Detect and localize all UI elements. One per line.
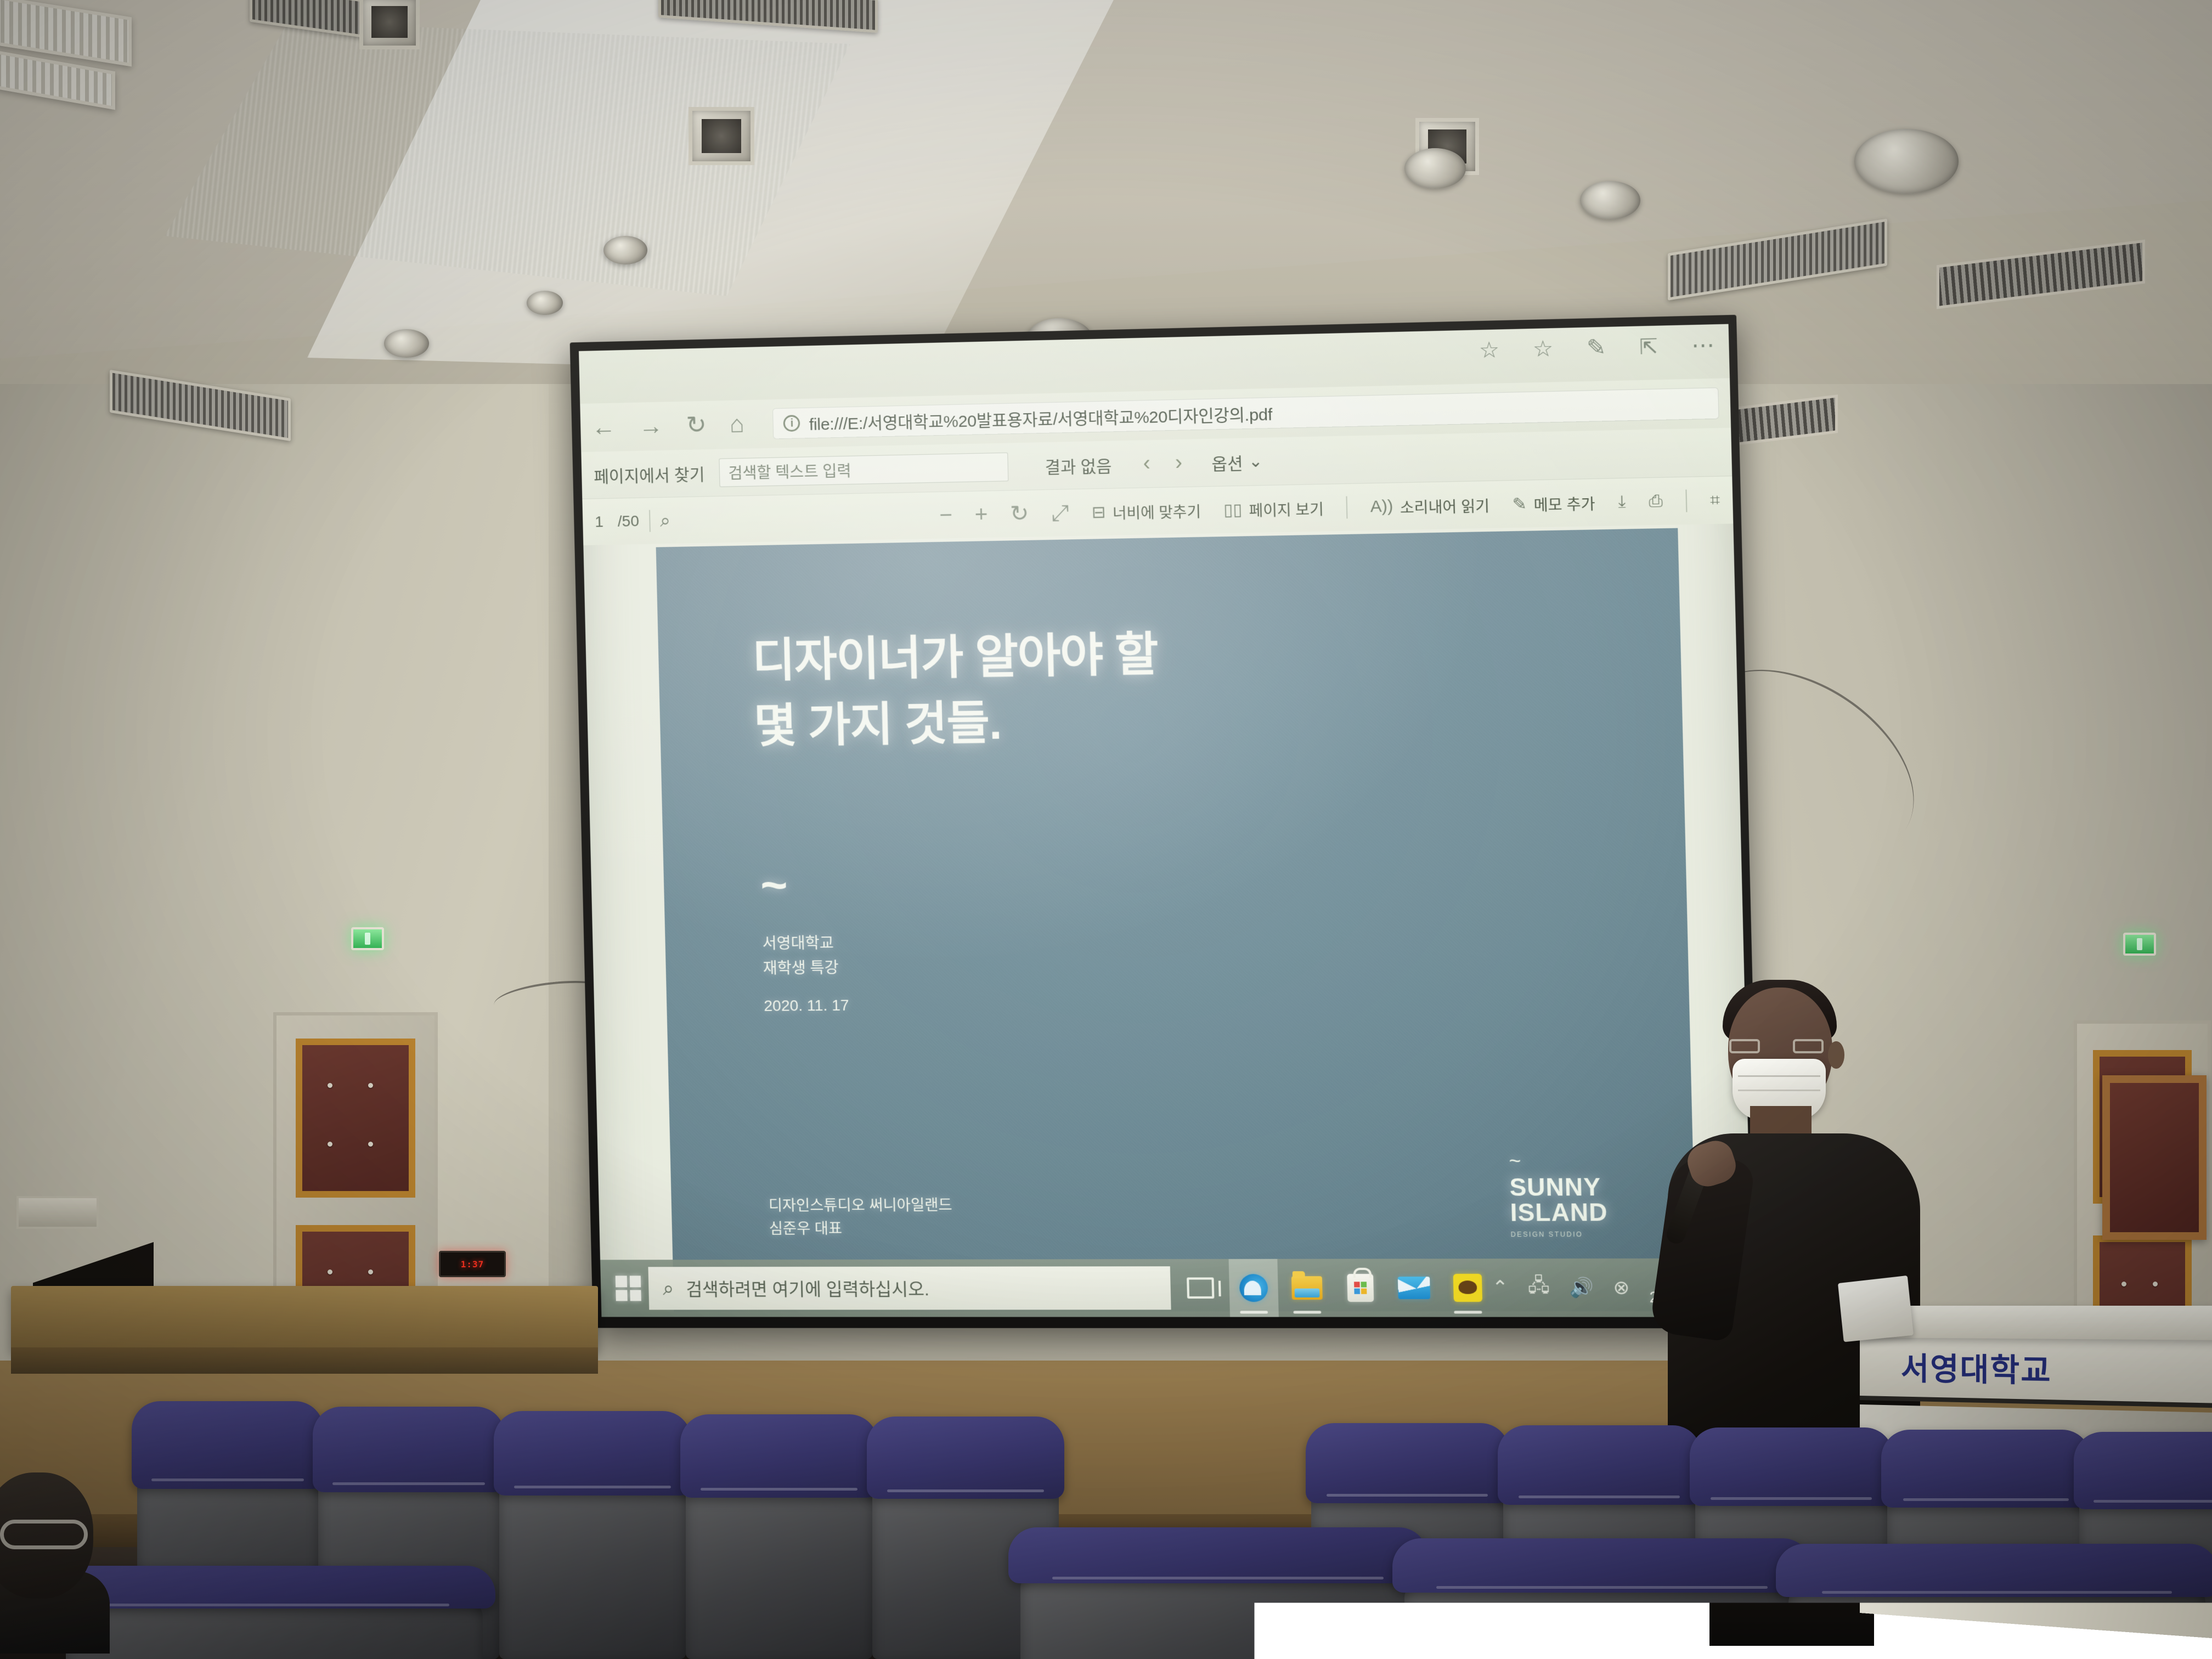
seat xyxy=(686,1414,872,1659)
auditorium-seating xyxy=(0,1242,2212,1659)
site-info-icon[interactable]: i xyxy=(783,415,800,432)
find-input-placeholder: 검색할 텍스트 입력 xyxy=(728,459,851,483)
emergency-exit-sign xyxy=(351,927,384,950)
read-aloud-button[interactable]: A)) 소리내어 읽기 xyxy=(1370,494,1489,518)
print-icon[interactable]: ⎙ xyxy=(1649,492,1663,511)
toolbar-divider xyxy=(649,510,651,532)
current-page-input[interactable]: 1 xyxy=(595,513,603,531)
favorite-star-icon[interactable]: ☆ xyxy=(1479,337,1500,364)
add-note-label: 메모 추가 xyxy=(1533,492,1595,515)
logo-tagline: DESIGN STUDIO xyxy=(1510,1231,1608,1239)
more-icon[interactable]: ⌗ xyxy=(1710,490,1720,510)
ceiling-spotlight xyxy=(1854,129,1959,194)
slide-organization: 서영대학교 재학생 특강 xyxy=(762,930,839,981)
slide-title-line2: 몇 가지 것들. xyxy=(753,687,1160,759)
presenter-glasses xyxy=(1729,1039,1824,1053)
audience-member xyxy=(0,1434,110,1654)
find-result-count: 결과 없음 xyxy=(1045,452,1112,478)
search-icon[interactable]: ⌕ xyxy=(660,510,671,531)
zoom-out-button[interactable]: − xyxy=(939,503,953,528)
page-view-button[interactable]: ▯▯ 페이지 보기 xyxy=(1223,497,1324,521)
find-input[interactable]: 검색할 텍스트 입력 xyxy=(719,452,1008,487)
seat-front-row xyxy=(1404,1538,1799,1659)
slide-title-line1: 디자이너가 알아야 할 xyxy=(752,622,1158,694)
find-options-button[interactable]: 옵션 ⌄ xyxy=(1211,449,1263,475)
save-icon[interactable]: ⤓ xyxy=(1618,493,1626,512)
logo-tilde: ~ xyxy=(1509,1156,1606,1166)
wall-decor-panel xyxy=(2102,1075,2207,1240)
rotate-button[interactable]: ↻ xyxy=(1010,501,1029,527)
slide-credit: 디자인스튜디오 써니아일랜드 심준우 대표 xyxy=(769,1193,953,1241)
lecture-hall-photo: 1:37 ☆ ☆ ✎ ⇱ ⋯ ✕ ← xyxy=(0,0,2212,1659)
fit-expand-button[interactable]: ⤢ xyxy=(1051,500,1070,526)
logo-line1: SUNNY xyxy=(1509,1175,1607,1200)
refresh-button[interactable]: ↻ xyxy=(686,413,707,438)
fit-to-width-button[interactable]: ⊟ 너비에 맞추기 xyxy=(1092,499,1201,523)
share-icon[interactable]: ⇱ xyxy=(1639,334,1658,360)
seat xyxy=(499,1411,686,1659)
ceiling-spotlight xyxy=(1404,148,1466,189)
toolbar-divider xyxy=(1685,489,1687,512)
slide-tilde-mark: ~ xyxy=(760,876,788,894)
page-view-label: 페이지 보기 xyxy=(1249,497,1324,520)
ceiling-spotlight xyxy=(1580,181,1640,219)
ceiling-spotlight xyxy=(603,236,647,264)
slide-credit-line2: 심준우 대표 xyxy=(769,1217,953,1241)
favorites-list-icon[interactable]: ☆ xyxy=(1532,336,1554,362)
slide-title: 디자이너가 알아야 할 몇 가지 것들. xyxy=(752,622,1160,760)
page-indicator: 1 /50 xyxy=(595,512,639,531)
wall-outlet-panel xyxy=(16,1196,99,1229)
notes-icon[interactable]: ✎ xyxy=(1587,335,1606,361)
fit-width-label: 너비에 맞추기 xyxy=(1113,499,1201,523)
slide-org-line1: 서영대학교 xyxy=(762,930,838,956)
read-aloud-label: 소리내어 읽기 xyxy=(1400,494,1489,517)
toolbar-divider xyxy=(1346,496,1348,519)
total-pages-label: /50 xyxy=(618,512,640,531)
front-bench-base xyxy=(11,1347,598,1374)
emergency-exit-sign xyxy=(2123,933,2156,956)
home-button[interactable]: ⌂ xyxy=(729,412,744,437)
page-view-icon: ▯▯ xyxy=(1223,500,1243,520)
projected-desktop: ☆ ☆ ✎ ⇱ ⋯ ✕ ← → ↻ ⌂ i file:///E:/서영대학교%2… xyxy=(579,324,1752,1317)
recessed-ceiling-light xyxy=(359,0,420,49)
more-menu-icon[interactable]: ⋯ xyxy=(1691,332,1717,359)
pencil-icon: ✎ xyxy=(1512,494,1527,514)
seat-front-row xyxy=(66,1566,483,1659)
ceiling-spotlight xyxy=(527,291,563,315)
zoom-in-button[interactable]: + xyxy=(974,502,988,527)
seat-front-row xyxy=(1788,1544,2205,1659)
slide-org-line2: 재학생 특강 xyxy=(763,956,839,981)
pdf-view-controls: − + ↻ ⤢ ⊟ 너비에 맞추기 ▯▯ 페이지 보기 A)) xyxy=(939,487,1720,528)
front-bench xyxy=(11,1286,598,1352)
recessed-ceiling-light xyxy=(689,107,754,165)
chevron-down-icon: ⌄ xyxy=(1248,452,1263,471)
projection-screen: ☆ ☆ ✎ ⇱ ⋯ ✕ ← → ↻ ⌂ i file:///E:/서영대학교%2… xyxy=(579,324,1752,1317)
logo-line2: ISLAND xyxy=(1510,1200,1608,1226)
forward-button[interactable]: → xyxy=(639,414,663,439)
read-aloud-icon: A)) xyxy=(1370,497,1393,516)
seat-front-row xyxy=(1020,1527,1415,1659)
find-on-page-label: 페이지에서 찾기 xyxy=(594,461,705,487)
find-prev-button[interactable]: ‹ xyxy=(1143,452,1150,476)
add-note-button[interactable]: ✎ 메모 추가 xyxy=(1512,492,1595,515)
ceiling-spotlight xyxy=(384,329,429,358)
back-button[interactable]: ← xyxy=(591,415,616,440)
sunny-island-logo: ~ SUNNY ISLAND DESIGN STUDIO xyxy=(1509,1156,1608,1238)
fit-width-icon: ⊟ xyxy=(1092,503,1107,522)
pdf-slide-page-1: 디자이너가 알아야 할 몇 가지 것들. ~ 서영대학교 재학생 특강 2020… xyxy=(656,528,1697,1312)
find-next-button[interactable]: › xyxy=(1175,451,1182,475)
slide-date: 2020. 11. 17 xyxy=(764,997,849,1015)
presenter-ear xyxy=(1828,1041,1844,1069)
find-options-label: 옵션 xyxy=(1211,449,1243,475)
address-bar-url: file:///E:/서영대학교%20발표용자료/서영대학교%20디자인강의.p… xyxy=(809,400,1272,435)
door-panel-upper xyxy=(296,1039,416,1198)
slide-credit-line1: 디자인스튜디오 써니아일랜드 xyxy=(769,1193,953,1217)
find-nav-group: ‹ › xyxy=(1143,451,1182,476)
edge-toolbar-icons: ☆ ☆ ✎ ⇱ ⋯ xyxy=(1479,332,1717,364)
